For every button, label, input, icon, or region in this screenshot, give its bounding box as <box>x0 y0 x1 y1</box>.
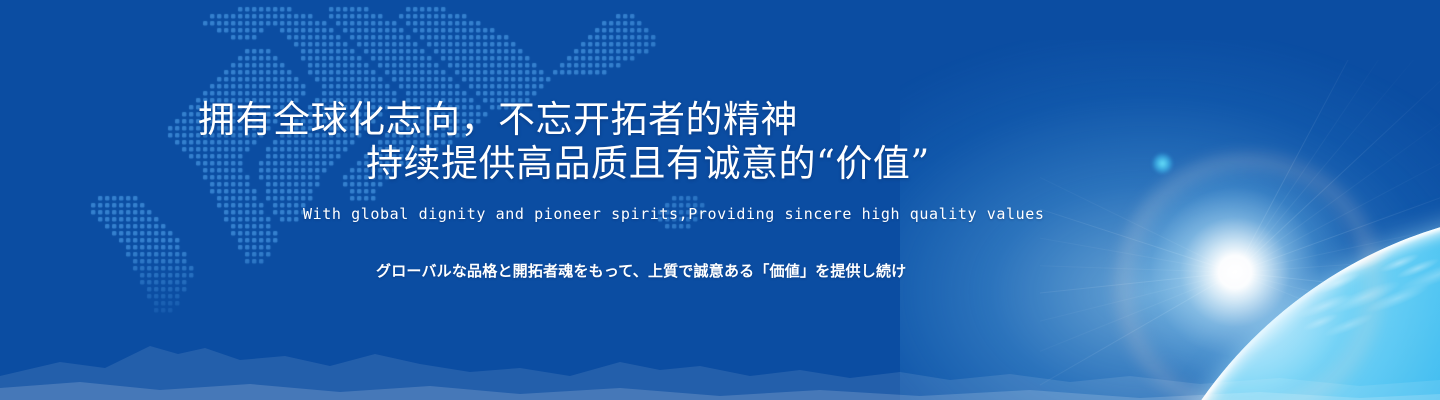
light-ray <box>1235 60 1440 273</box>
subheadline-english: With global dignity and pioneer spirits,… <box>303 205 1045 223</box>
planet-rim-highlight <box>1120 208 1440 400</box>
light-ray <box>1235 272 1440 307</box>
subheadline-japanese: グローバルな品格と開拓者魂をもって、上質で誠意ある「価値」を提供し続け <box>376 260 906 281</box>
sun-halo-ring <box>1117 154 1381 400</box>
sun-core-glow <box>1105 142 1365 400</box>
light-ray <box>1040 272 1235 353</box>
light-ray <box>1235 159 1440 273</box>
light-ray <box>1040 272 1235 397</box>
light-ray <box>1235 60 1440 273</box>
light-ray <box>1040 215 1235 273</box>
light-ray <box>1235 249 1440 273</box>
light-ray <box>1235 60 1391 273</box>
planet-limb-graphic <box>1120 208 1440 400</box>
planet-surface-texture <box>1120 208 1440 400</box>
light-ray <box>1235 272 1440 353</box>
light-rays-graphic <box>1040 60 1440 400</box>
light-ray <box>1235 78 1440 273</box>
planet-lens-ring <box>1174 226 1440 400</box>
mountain-silhouette-graphic <box>0 310 1440 400</box>
light-ray <box>1235 117 1440 273</box>
light-ray <box>1040 127 1235 273</box>
light-ray <box>1040 170 1235 273</box>
lens-flare-orb-icon <box>1152 153 1173 174</box>
light-ray <box>1040 272 1235 400</box>
light-ray <box>1040 260 1235 273</box>
headline-line-2: 持续提供高品质且有诚意的“价值” <box>366 133 930 187</box>
light-ray <box>1040 272 1235 307</box>
hero-banner: 拥有全球化志向，不忘开拓者的精神 持续提供高品质且有诚意的“价值” With g… <box>0 0 1440 400</box>
light-ray <box>1235 272 1440 397</box>
light-ray <box>1235 203 1440 273</box>
light-ray <box>1235 60 1420 273</box>
